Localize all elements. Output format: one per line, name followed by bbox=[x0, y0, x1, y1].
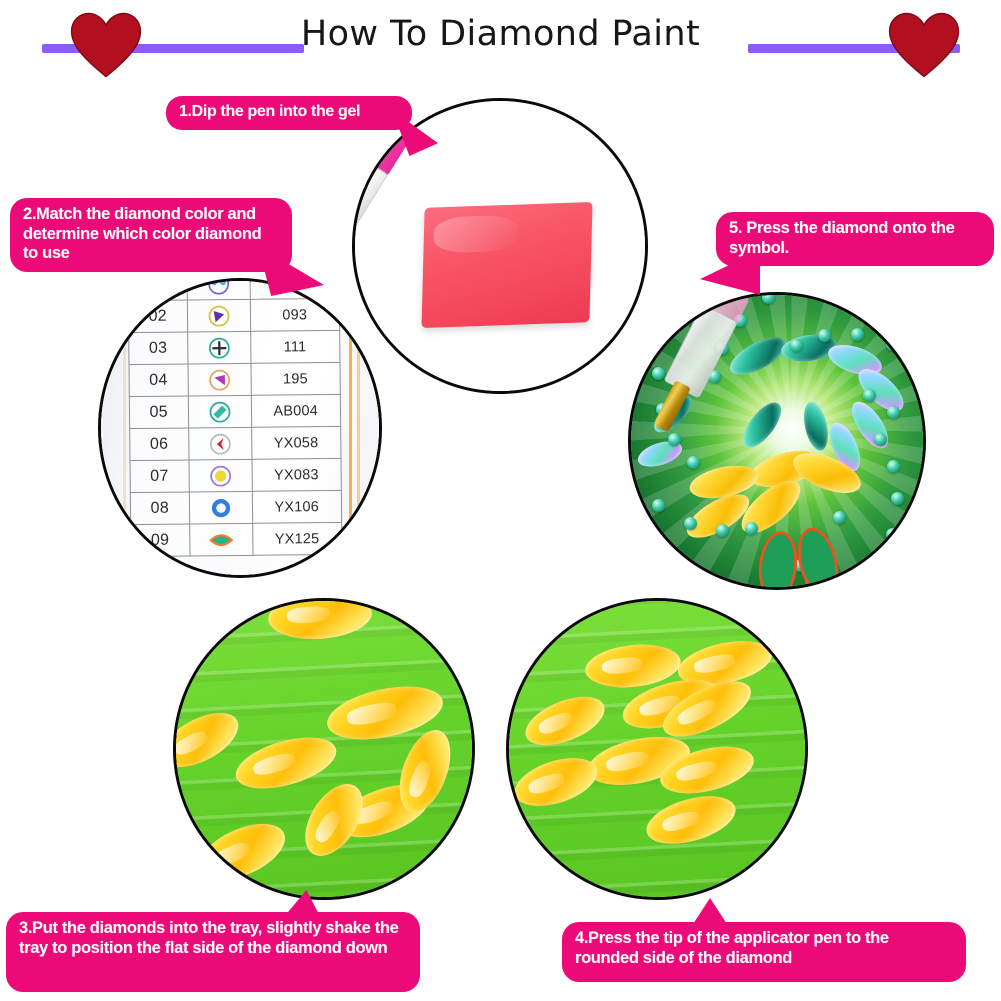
callout-step-3: 3.Put the diamonds into the tray, slight… bbox=[6, 912, 420, 992]
chart-cell-symbol bbox=[189, 491, 252, 524]
table-row: 02093 bbox=[128, 298, 339, 332]
chart-cell-number: 09 bbox=[131, 524, 190, 557]
photo-step-4 bbox=[506, 598, 808, 900]
chart-cell-code: 195 bbox=[250, 362, 340, 395]
chart-cell-code: 093 bbox=[250, 298, 340, 331]
mandala-dot-gem bbox=[687, 456, 700, 469]
chart-cell-number: 03 bbox=[129, 332, 188, 365]
table-row: 04195 bbox=[129, 362, 340, 396]
photo-step-5 bbox=[628, 292, 926, 590]
mandala-dot-gem bbox=[874, 433, 887, 446]
chart-cell-code: YX106 bbox=[252, 490, 342, 523]
page-title: How To Diamond Paint bbox=[0, 14, 1001, 54]
chart-cell-symbol bbox=[187, 299, 250, 332]
table-row: 05AB004 bbox=[129, 394, 340, 428]
gel-pad bbox=[421, 202, 592, 328]
table-row: 07YX083 bbox=[130, 458, 341, 492]
chart-cell-symbol bbox=[189, 459, 252, 492]
leaf-marquise-symbol bbox=[208, 527, 234, 553]
chart-cell-number: 01 bbox=[128, 278, 187, 301]
ring-circle-symbol bbox=[207, 495, 233, 521]
callout-step-5: 5. Press the diamond onto the symbol. bbox=[716, 212, 994, 266]
chart-cell-symbol bbox=[188, 395, 251, 428]
chart-cell-number: 06 bbox=[130, 428, 189, 461]
mandala-dot-gem bbox=[668, 433, 681, 446]
two-dots-circle-symbol bbox=[205, 278, 231, 297]
table-row: 09YX125 bbox=[131, 522, 342, 556]
chart-cell-symbol bbox=[187, 278, 250, 300]
color-legend-table: 0102002093031110419505AB00406YX05807YX08… bbox=[127, 278, 342, 557]
callout-step-4: 4.Press the tip of the applicator pen to… bbox=[562, 922, 966, 982]
chart-cell-symbol bbox=[189, 523, 252, 556]
photo-step-1 bbox=[352, 98, 648, 394]
filled-dot-circle-symbol bbox=[207, 463, 233, 489]
triangle-right-circle-symbol bbox=[206, 367, 232, 393]
mandala-dot-gem bbox=[863, 389, 876, 402]
chart-cell-number: 08 bbox=[130, 492, 189, 525]
chart-cell-code: YX058 bbox=[251, 426, 341, 459]
mandala-dot-gem bbox=[887, 460, 900, 473]
chart-cell-code: YX125 bbox=[252, 522, 342, 555]
chart-cell-symbol bbox=[187, 331, 250, 364]
chart-cell-code: 111 bbox=[250, 330, 340, 363]
chart-cell-number: 07 bbox=[130, 460, 189, 493]
header: How To Diamond Paint bbox=[0, 0, 1001, 88]
left-arrow-circle-symbol bbox=[207, 431, 233, 457]
plus-circle-symbol bbox=[206, 335, 232, 361]
slash-oval-circle-symbol bbox=[206, 399, 232, 425]
table-row: 06YX058 bbox=[130, 426, 341, 460]
chart-cell-number: 02 bbox=[128, 300, 187, 333]
photo-step-2: 0102002093031110419505AB00406YX05807YX08… bbox=[98, 278, 382, 578]
chart-cell-code: AB004 bbox=[251, 394, 341, 427]
table-row: 03111 bbox=[129, 330, 340, 364]
chart-cell-code: YX083 bbox=[252, 458, 342, 491]
triangle-circle-symbol bbox=[205, 303, 231, 329]
photo-step-3 bbox=[173, 598, 475, 900]
chart-cell-number: 04 bbox=[129, 364, 188, 397]
chart-cell-number: 05 bbox=[129, 396, 188, 429]
mandala-dot-gem bbox=[886, 528, 899, 541]
infographic-page: How To Diamond Paint 1.Dip the pen into … bbox=[0, 0, 1001, 1001]
mandala-dot-gem bbox=[762, 292, 775, 304]
chart-cell-symbol bbox=[188, 363, 251, 396]
callout-step-2: 2.Match the diamond color and determine … bbox=[10, 198, 292, 272]
chart-cell-symbol bbox=[188, 427, 251, 460]
table-row: 08YX106 bbox=[130, 490, 341, 524]
callout-step-1: 1.Dip the pen into the gel bbox=[166, 96, 412, 130]
